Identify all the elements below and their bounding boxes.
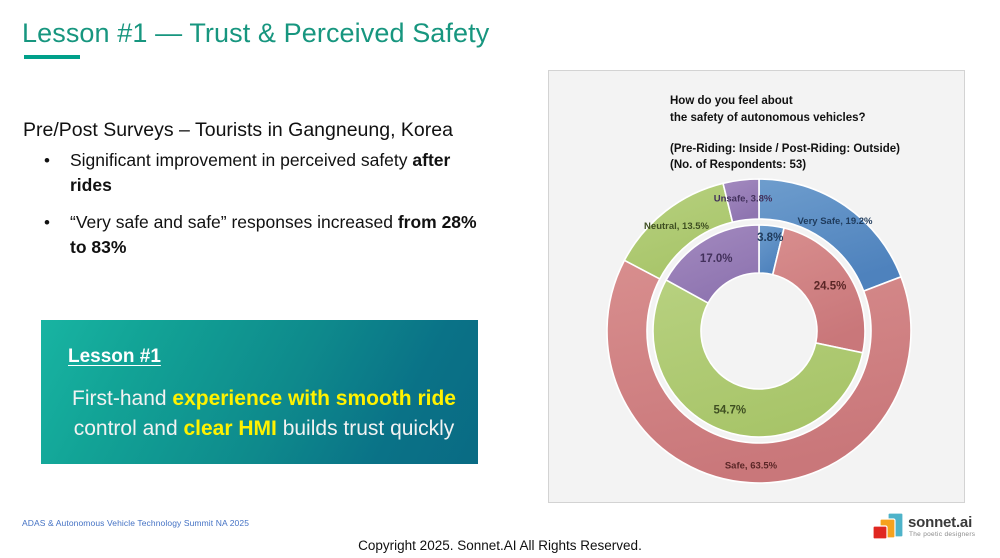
callout-body: First-hand experience with smooth ride c…: [68, 384, 460, 444]
bullet-dot-icon: •: [44, 148, 50, 173]
section-lead: Pre/Post Surveys – Tourists in Gangneung…: [23, 117, 453, 143]
donut-slice-label: Very Safe, 19.2%: [798, 216, 874, 227]
slide-root: Lesson #1 — Trust & Perceived Safety Pre…: [0, 0, 1000, 558]
donut-slice-label: 54.7%: [713, 404, 746, 416]
bullet-text: Significant improvement in perceived saf…: [70, 150, 412, 170]
logo-mark-icon: [872, 512, 906, 542]
donut-slice-label: 3.8%: [757, 232, 783, 244]
callout-line1-highlight: experience with smooth ride: [172, 387, 456, 410]
lesson-callout-box: Lesson #1 First-hand experience with smo…: [41, 320, 478, 464]
title-accent-rule: [24, 55, 80, 59]
logo-wordmark: sonnet.ai: [908, 514, 972, 531]
bullet-list: • Significant improvement in perceived s…: [42, 148, 492, 272]
donut-slice: [607, 260, 911, 483]
callout-title: Lesson #1: [68, 346, 161, 368]
callout-line2-pre: control and: [74, 417, 184, 440]
donut-chart: 3.8%24.5%54.7%17.0%Very Safe, 19.2%Safe,…: [604, 176, 914, 486]
donut-slice-label: Safe, 63.5%: [725, 460, 778, 471]
donut-slice-label: 24.5%: [814, 281, 847, 293]
callout-line2-post: builds trust quickly: [277, 417, 454, 440]
donut-slice-label: Neutral, 13.5%: [644, 221, 709, 232]
footer-copyright: Copyright 2025. Sonnet.AI All Rights Res…: [0, 538, 1000, 553]
logo-tagline: The poetic designers: [909, 531, 975, 538]
chart-panel: How do you feel about the safety of auto…: [548, 70, 965, 503]
footer-event: ADAS & Autonomous Vehicle Technology Sum…: [22, 518, 249, 528]
sonnet-logo: sonnet.ai The poetic designers: [872, 512, 992, 546]
donut-slice-label: Unsafe, 3.8%: [714, 193, 773, 204]
bullet-text: “Very safe and safe” responses increased: [70, 212, 398, 232]
donut-chart-wrap: 3.8%24.5%54.7%17.0%Very Safe, 19.2%Safe,…: [549, 71, 964, 502]
donut-slice-label: 17.0%: [700, 253, 733, 265]
callout-line2-highlight: clear HMI: [183, 417, 276, 440]
list-item: • Significant improvement in perceived s…: [42, 148, 492, 198]
callout-line1-pre: First-hand: [72, 387, 172, 410]
list-item: • “Very safe and safe” responses increas…: [42, 210, 492, 260]
page-title: Lesson #1 — Trust & Perceived Safety: [22, 16, 489, 50]
bullet-dot-icon: •: [44, 210, 50, 235]
